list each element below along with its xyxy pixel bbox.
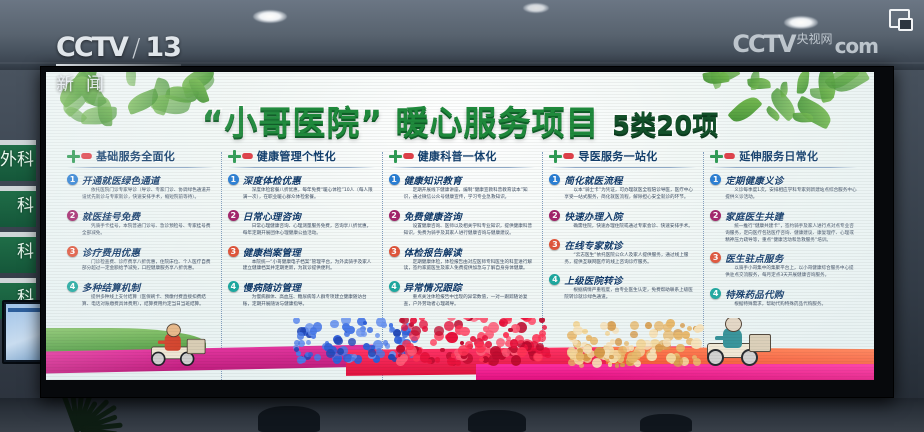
person-silhouette xyxy=(468,410,526,432)
item-body: 快速办理入院确需住院，快速办理住院或通过专家会诊、快速安排手术。 xyxy=(564,209,692,231)
service-item: 3医生驻点服务以骑手小哥集中的集聚平台上，以小哥健康综合服务中心提供驻点交流服务… xyxy=(710,251,857,280)
service-item: 3在线专家就诊“云志医生”依托医院公众人及家人提供服务，通过线上服务，提供互联网… xyxy=(549,238,696,267)
service-item: 3诊疗费用优惠门诊检查费、诊疗费享八折优惠，住院床位、个人医疗自费部分超过一定金… xyxy=(67,245,214,274)
service-item: 4慢病随访管理为慢病群体、高血压、糖尿病等人群专项建立健康随访台账，定期开展随访… xyxy=(228,280,375,309)
delivery-box xyxy=(749,334,771,352)
item-description: 凭骑手卡挂号，本院普通门诊号、急诊预检号、专家挂号费全部减免。 xyxy=(82,224,214,238)
item-body: 体检报告解读定期健康体检，体检报告由对应医师专科医生的科室进行解读，签约家庭医生… xyxy=(404,245,536,274)
item-title: 免费健康咨询 xyxy=(404,209,536,223)
item-number-badge: 1 xyxy=(67,174,78,185)
item-body: 特殊药品代购根据特殊需求，帮助代购特殊药品代购服务。 xyxy=(725,287,826,309)
person-silhouette xyxy=(258,406,320,432)
item-number-badge: 4 xyxy=(710,288,721,299)
delivery-rider-icon xyxy=(701,318,771,366)
channel-logo-text: CCTV xyxy=(56,32,127,63)
ceiling-light xyxy=(253,10,287,23)
department-sign: 科 xyxy=(0,232,36,273)
column-title: 健康管理个性化 xyxy=(257,148,336,164)
rider-arm xyxy=(158,341,170,344)
item-body: 慢病随访管理为慢病群体、高血压、糖尿病等人群专项建立健康随访台账，定期开展随访与… xyxy=(243,280,375,309)
scooter-wheel xyxy=(707,349,724,366)
rider-arm xyxy=(715,336,729,340)
channel-number: 13 xyxy=(145,32,181,63)
item-title: 深度体检优惠 xyxy=(243,173,375,187)
service-item: 3健康档案管理本院统一“小哥健康电子档案”管理平台，为外卖骑手及家人建立健康档案… xyxy=(228,245,375,274)
item-body: 开通就医绿色通道依托医院门诊专家导诊（导诊、专家门诊、协调绿色通道开设优先就诊与… xyxy=(82,173,214,202)
item-title: 简化就医流程 xyxy=(564,173,696,187)
item-title: 健康档案管理 xyxy=(243,245,375,259)
item-number-badge: 4 xyxy=(389,281,400,292)
service-item: 1开通就医绿色通道依托医院门诊专家导诊（导诊、专家门诊、协调绿色通道开设优先就诊… xyxy=(67,173,214,202)
item-number-badge: 3 xyxy=(710,252,721,263)
column-divider xyxy=(549,167,696,168)
ceiling-light xyxy=(523,3,549,13)
channel-logo-slash: / xyxy=(132,33,140,62)
item-description: 定期开展线下健康讲座，编制“健康宣教科普教育读本”知识，通过微信公众号健康宣传，… xyxy=(404,188,536,202)
service-item: 2快速办理入院确需住院，快速办理住院或通过专家会诊、快速安排手术。 xyxy=(549,209,696,231)
poster-column: 健康科普一体化1健康知识教育定期开展线下健康讲座，编制“健康宣教科普教育读本”知… xyxy=(382,148,543,316)
column-header: 健康管理个性化 xyxy=(228,148,375,164)
column-divider xyxy=(710,167,857,168)
item-title: 上级医院转诊 xyxy=(564,273,696,287)
poster-column: 导医服务一站化1简化就医流程以本“骑士卡”为凭证，可办理就医全程陪诊导医，医疗中… xyxy=(542,148,703,316)
item-body: 诊疗费用优惠门诊检查费、诊疗费享八折优惠，住院床位、个人医疗自费部分超过一定金额… xyxy=(82,245,214,274)
service-item: 2日常心理咨询日常心理健康咨询、心理测量服务免费，咨询享八折优惠，每年定期开展团… xyxy=(228,209,375,238)
watermark-cctv-text: CCTV xyxy=(732,30,794,58)
item-description: 以骑手小哥集中的集聚平台上，以小哥健康综合服务中心提供驻点交流服务，每月定点3天… xyxy=(725,266,857,280)
scooter-wheel xyxy=(151,352,165,366)
column-divider xyxy=(389,167,536,168)
column-title: 基础服务全面化 xyxy=(96,148,175,164)
rider-head xyxy=(166,324,180,338)
item-title: 快速办理入院 xyxy=(564,209,692,223)
poster-title-row: “小哥医院” 暖心服务项目 5类20项 xyxy=(46,96,874,144)
service-item: 2家庭医生共建统一推行“健康共建卡”，签约骑手及家人进行点对点专业咨询服务，定向… xyxy=(710,209,857,245)
column-header: 延伸服务日常化 xyxy=(710,148,857,164)
poster-column: 健康管理个性化1深度体检优惠深度体检套餐八折优惠，每年免费“暖心体检”10人（每… xyxy=(221,148,382,316)
medical-cross-icon xyxy=(710,150,723,163)
item-title: 开通就医绿色通道 xyxy=(82,173,214,187)
ceiling-light xyxy=(784,16,818,29)
monitor-screen-bar xyxy=(8,308,44,312)
item-body: 异常情况跟踪重点关注体检报告中出现的异常数值，一对一跟踪随访复查，户外劳动者心理… xyxy=(404,280,536,309)
column-divider xyxy=(228,167,375,168)
person-silhouette xyxy=(640,414,692,432)
item-description: 统一推行“健康共建卡”，签约骑手及家人进行点对点专业咨询服务，定向医疗包括医疗咨… xyxy=(725,224,857,245)
ribbon-icon xyxy=(723,153,735,159)
service-item: 4上级医院转诊根据病情严重程度，由专业医生认定，免费帮助联系上级医院转诊就诊绿色… xyxy=(549,273,696,302)
item-description: 提供多种线上支付结算（医保刷卡、预缴付费直接扣费结算、电话对账缴费具体费用），结… xyxy=(82,295,214,309)
service-item: 1简化就医流程以本“骑士卡”为凭证，可办理就医全程陪诊导医，医疗中心享受一站式服… xyxy=(549,173,696,202)
item-title: 健康知识教育 xyxy=(404,173,536,187)
item-title: 定期健康义诊 xyxy=(725,173,857,187)
channel-logo: CCTV / 13 新闻 xyxy=(56,32,181,96)
item-number-badge: 2 xyxy=(389,210,400,221)
item-body: 在线专家就诊“云志医生”依托医院公众人及家人提供服务，通过线上服务，提供互联网医… xyxy=(564,238,696,267)
service-program-poster: “小哥医院” 暖心服务项目 5类20项 基础服务全面化1开通就医绿色通道依托医院… xyxy=(46,72,874,380)
decor-cluster xyxy=(291,324,411,364)
medical-cross-icon xyxy=(389,150,402,163)
service-item: 3体检报告解读定期健康体检，体检报告由对应医师专科医生的科室进行解读，签约家庭医… xyxy=(389,245,536,274)
column-header: 基础服务全面化 xyxy=(67,148,214,164)
item-body: 免费健康咨询设置健康咨询、医师以及相关学科专业知识，提供健康科普知识，免费为骑手… xyxy=(404,209,536,238)
medical-cross-icon xyxy=(67,150,80,163)
item-description: 门诊检查费、诊疗费享八折优惠，住院床位、个人医疗自费部分超过一定金额给予减免，口… xyxy=(82,260,214,274)
broadcast-frame: 外科 科 科 科 “小哥医院” 暖心服务项目 5类20项 基础服务全面化1开通就… xyxy=(0,0,924,432)
item-body: 简化就医流程以本“骑士卡”为凭证，可办理就医全程陪诊导医，医疗中心享受一站式服务… xyxy=(564,173,696,202)
poster-column: 延伸服务日常化1定期健康义诊义诊每季度1次，安排相应学科专家到新建站点综合服务中… xyxy=(703,148,864,316)
watermark-cn-text: 央视网 xyxy=(797,33,833,45)
website-watermark: CCTV 央视网 com xyxy=(732,30,878,58)
item-title: 特殊药品代购 xyxy=(725,287,826,301)
item-body: 日常心理咨询日常心理健康咨询、心理测量服务免费，咨询享八折优惠，每年定期开展团体… xyxy=(243,209,375,238)
item-number-badge: 2 xyxy=(549,210,560,221)
item-title: 就医挂号免费 xyxy=(82,209,214,223)
service-item: 4异常情况跟踪重点关注体检报告中出现的异常数值，一对一跟踪随访复查，户外劳动者心… xyxy=(389,280,536,309)
ribbon-icon xyxy=(241,153,253,159)
service-item: 4多种结算机制提供多种线上支付结算（医保刷卡、预缴付费直接扣费结算、电话对账缴费… xyxy=(67,280,214,309)
item-body: 深度体检优惠深度体检套餐八折优惠，每年免费“暖心体检”10人（每人限满一次），在… xyxy=(243,173,375,202)
delivery-rider-icon xyxy=(146,328,197,366)
delivery-box xyxy=(187,339,206,354)
item-number-badge: 3 xyxy=(228,246,239,257)
column-divider xyxy=(67,167,214,168)
ribbon-icon xyxy=(563,153,575,159)
decor-cluster xyxy=(566,328,696,368)
picture-in-picture-icon[interactable] xyxy=(889,9,913,31)
ribbon-icon xyxy=(402,153,414,159)
item-description: 确需住院，快速办理住院或通过专家会诊、快速安排手术。 xyxy=(564,224,692,231)
item-number-badge: 3 xyxy=(67,246,78,257)
poster-columns: 基础服务全面化1开通就医绿色通道依托医院门诊专家导诊（导诊、专家门诊、协调绿色通… xyxy=(60,148,864,316)
item-title: 体检报告解读 xyxy=(404,245,536,259)
item-description: 依托医院门诊专家导诊（导诊、专家门诊、协调绿色通道开设优先就诊与专家就诊，快速安… xyxy=(82,188,214,202)
item-number-badge: 1 xyxy=(389,174,400,185)
service-item: 1健康知识教育定期开展线下健康讲座，编制“健康宣教科普教育读本”知识，通过微信公… xyxy=(389,173,536,202)
column-header: 健康科普一体化 xyxy=(389,148,536,164)
medical-cross-icon xyxy=(228,150,241,163)
item-number-badge: 4 xyxy=(67,281,78,292)
item-number-badge: 2 xyxy=(228,210,239,221)
watermark-com-text: com xyxy=(835,34,878,58)
item-body: 多种结算机制提供多种线上支付结算（医保刷卡、预缴付费直接扣费结算、电话对账缴费具… xyxy=(82,280,214,309)
item-body: 上级医院转诊根据病情严重程度，由专业医生认定，免费帮助联系上级医院转诊就诊绿色通… xyxy=(564,273,696,302)
item-number-badge: 1 xyxy=(549,174,560,185)
service-item: 1定期健康义诊义诊每季度1次，安排相应学科专家到新建站点综合服务中心提供义诊活动… xyxy=(710,173,857,202)
item-number-badge: 2 xyxy=(710,210,721,221)
column-title: 导医服务一站化 xyxy=(578,148,657,164)
item-number-badge: 1 xyxy=(228,174,239,185)
service-item: 4特殊药品代购根据特殊需求，帮助代购特殊药品代购服务。 xyxy=(710,287,857,309)
item-title: 异常情况跟踪 xyxy=(404,280,536,294)
channel-subtitle: 新闻 xyxy=(56,70,181,96)
poster-bottom-scenery xyxy=(46,318,874,380)
department-sign: 科 xyxy=(0,186,36,227)
item-description: 根据病情严重程度，由专业医生认定，免费帮助联系上级医院转诊就诊绿色通道。 xyxy=(564,288,696,302)
poster-title: “小哥医院” 暖心服务项目 xyxy=(202,103,600,142)
item-description: 设置健康咨询、医师以及相关学科专业知识，提供健康科普知识，免费为骑手及其家人进行… xyxy=(404,224,536,238)
item-number-badge: 3 xyxy=(549,239,560,250)
item-number-badge: 2 xyxy=(67,210,78,221)
item-description: 定期健康体检，体检报告由对应医师专科医生的科室进行解读，签约家庭医生及家人免费提… xyxy=(404,260,536,274)
led-screen: “小哥医院” 暖心服务项目 5类20项 基础服务全面化1开通就医绿色通道依托医院… xyxy=(46,72,874,380)
item-title: 日常心理咨询 xyxy=(243,209,375,223)
item-title: 诊疗费用优惠 xyxy=(82,245,214,259)
department-sign-board: 外科 科 科 科 xyxy=(0,140,34,324)
item-number-badge: 1 xyxy=(710,174,721,185)
decor-cluster xyxy=(396,320,546,366)
item-description: 以本“骑士卡”为凭证，可办理就医全程陪诊导医，医疗中心享受一站式服务，简化就医流… xyxy=(564,188,696,202)
item-description: 本院统一“小哥健康电子档案”管理平台，为外卖骑手及家人建立健康档案并定期更新，为… xyxy=(243,260,375,274)
poster-column: 基础服务全面化1开通就医绿色通道依托医院门诊专家导诊（导诊、专家门诊、协调绿色通… xyxy=(60,148,221,316)
item-body: 就医挂号免费凭骑手卡挂号，本院普通门诊号、急诊预检号、专家挂号费全部减免。 xyxy=(82,209,214,238)
column-header: 导医服务一站化 xyxy=(549,148,696,164)
medical-cross-icon xyxy=(549,150,562,163)
item-title: 医生驻点服务 xyxy=(725,251,857,265)
poster-title-badge: 5类20项 xyxy=(612,111,718,141)
channel-logo-underline xyxy=(56,64,181,66)
service-item: 1深度体检优惠深度体检套餐八折优惠，每年免费“暖心体检”10人（每人限满一次），… xyxy=(228,173,375,202)
item-description: 深度体检套餐八折优惠，每年免费“暖心体检”10人（每人限满一次），在职业暖心群众… xyxy=(243,188,375,202)
column-title: 延伸服务日常化 xyxy=(739,148,818,164)
item-number-badge: 3 xyxy=(389,246,400,257)
item-title: 慢病随访管理 xyxy=(243,280,375,294)
item-description: 为慢病群体、高血压、糖尿病等人群专项建立健康随访台账，定期开展随访与健康指导。 xyxy=(243,295,375,309)
item-description: 重点关注体检报告中出现的异常数值，一对一跟踪随访复查，户外劳动者心理疏导。 xyxy=(404,295,536,309)
service-item: 2免费健康咨询设置健康咨询、医师以及相关学科专业知识，提供健康科普知识，免费为骑… xyxy=(389,209,536,238)
item-description: 义诊每季度1次，安排相应学科专家到新建站点综合服务中心提供义诊活动。 xyxy=(725,188,857,202)
item-body: 医生驻点服务以骑手小哥集中的集聚平台上，以小哥健康综合服务中心提供驻点交流服务，… xyxy=(725,251,857,280)
item-number-badge: 4 xyxy=(549,274,560,285)
item-title: 多种结算机制 xyxy=(82,280,214,294)
item-description: “云志医生”依托医院公众人及家人提供服务，通过线上服务，提供互联网医疗的线上咨询… xyxy=(564,253,696,267)
ribbon-icon xyxy=(80,153,92,159)
pip-inner-frame xyxy=(898,18,913,31)
service-item: 2就医挂号免费凭骑手卡挂号，本院普通门诊号、急诊预检号、专家挂号费全部减免。 xyxy=(67,209,214,238)
item-number-badge: 4 xyxy=(228,281,239,292)
column-title: 健康科普一体化 xyxy=(418,148,497,164)
item-body: 健康档案管理本院统一“小哥健康电子档案”管理平台，为外卖骑手及家人建立健康档案并… xyxy=(243,245,375,274)
item-body: 家庭医生共建统一推行“健康共建卡”，签约骑手及家人进行点对点专业咨询服务，定向医… xyxy=(725,209,857,245)
floor xyxy=(0,398,924,432)
department-sign: 外科 xyxy=(0,140,36,181)
item-title: 家庭医生共建 xyxy=(725,209,857,223)
item-title: 在线专家就诊 xyxy=(564,238,696,252)
item-description: 根据特殊需求，帮助代购特殊药品代购服务。 xyxy=(725,302,826,309)
item-body: 定期健康义诊义诊每季度1次，安排相应学科专家到新建站点综合服务中心提供义诊活动。 xyxy=(725,173,857,202)
item-body: 健康知识教育定期开展线下健康讲座，编制“健康宣教科普教育读本”知识，通过微信公众… xyxy=(404,173,536,202)
item-description: 日常心理健康咨询、心理测量服务免费，咨询享八折优惠，每年定期开展团体心理健康公益… xyxy=(243,224,375,238)
